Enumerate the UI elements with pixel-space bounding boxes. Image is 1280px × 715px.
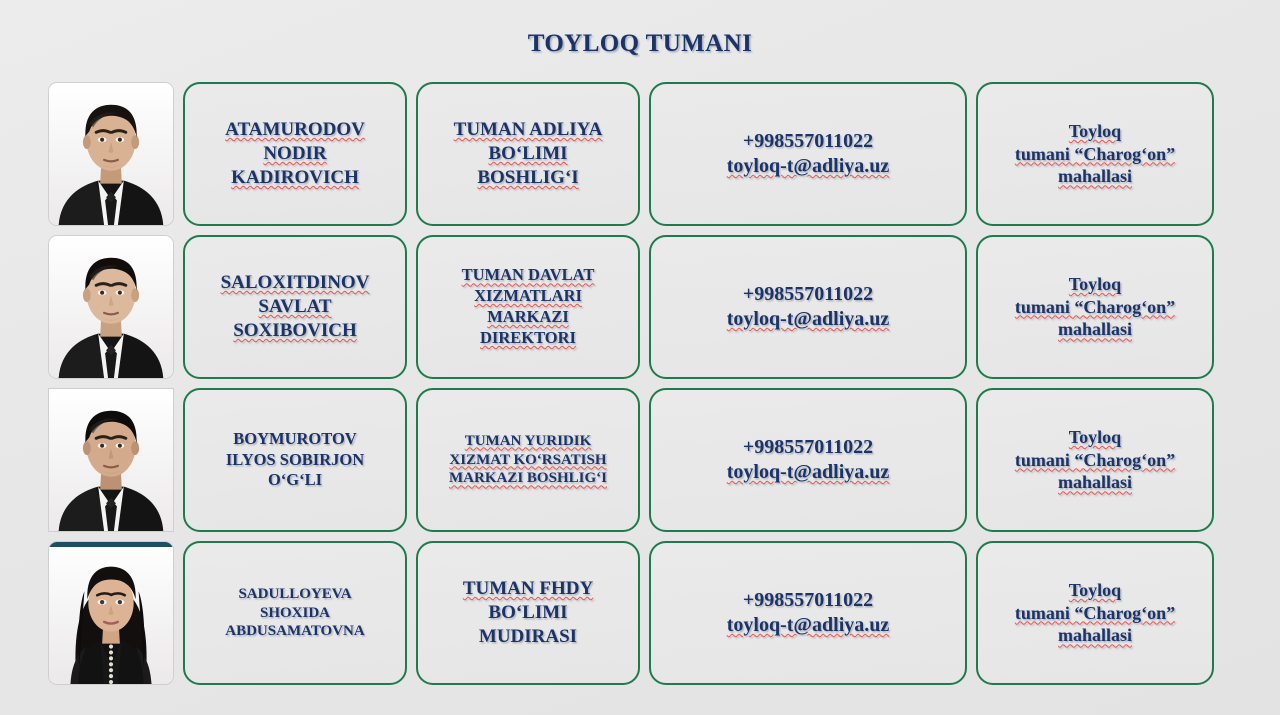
staff-contact: +998557011022 toyloq-t@adliya.uz xyxy=(727,435,890,485)
staff-contact-card: +998557011022 toyloq-t@adliya.uz xyxy=(649,388,967,532)
text-line: XIZMAT KO‘RSATISH xyxy=(449,451,607,470)
staff-contact: +998557011022 toyloq-t@adliya.uz xyxy=(727,129,890,179)
text-line: tumani “Charog‘on” xyxy=(1015,296,1175,319)
staff-row: ATAMURODOVNODIRKADIROVICH TUMAN ADLIYABO… xyxy=(48,82,1214,226)
text-line: MARKAZI xyxy=(462,307,595,328)
staff-position: TUMAN DAVLATXIZMATLARIMARKAZIDIREKTORI xyxy=(462,265,595,348)
staff-photo xyxy=(48,388,174,532)
text-line: BOYMUROTOV xyxy=(226,429,364,450)
staff-position-card: TUMAN YURIDIKXIZMAT KO‘RSATISHMARKAZI BO… xyxy=(416,388,640,532)
staff-name: SALOXITDINOVSAVLATSOXIBOVICH xyxy=(221,271,370,343)
staff-position: TUMAN FHDYBO‘LIMIMUDIRASI xyxy=(463,577,593,649)
staff-contact-card: +998557011022 toyloq-t@adliya.uz xyxy=(649,235,967,379)
staff-roster: ATAMURODOVNODIRKADIROVICH TUMAN ADLIYABO… xyxy=(48,82,1214,685)
staff-address: Toyloqtumani “Charog‘on”mahallasi xyxy=(1015,579,1175,647)
staff-contact: +998557011022 toyloq-t@adliya.uz xyxy=(727,588,890,638)
staff-contact-card: +998557011022 toyloq-t@adliya.uz xyxy=(649,541,967,685)
text-line: tumani “Charog‘on” xyxy=(1015,143,1175,166)
staff-address-card: Toyloqtumani “Charog‘on”mahallasi xyxy=(976,541,1214,685)
text-line: mahallasi xyxy=(1015,624,1175,647)
staff-name-card: ATAMURODOVNODIRKADIROVICH xyxy=(183,82,407,226)
text-line: Toyloq xyxy=(1015,273,1175,296)
text-line: BOSHLIG‘I xyxy=(454,166,603,190)
text-line: TUMAN DAVLAT xyxy=(462,265,595,286)
portrait-image xyxy=(49,542,173,684)
staff-address: Toyloqtumani “Charog‘on”mahallasi xyxy=(1015,426,1175,494)
staff-position: TUMAN ADLIYABO‘LIMIBOSHLIG‘I xyxy=(454,118,603,190)
text-line: DIREKTORI xyxy=(462,328,595,349)
staff-position: TUMAN YURIDIKXIZMAT KO‘RSATISHMARKAZI BO… xyxy=(449,432,607,489)
staff-row: SADULLOYEVASHOXIDAABDUSAMATOVNA TUMAN FH… xyxy=(48,541,1214,685)
staff-name-card: SALOXITDINOVSAVLATSOXIBOVICH xyxy=(183,235,407,379)
text-line: ATAMURODOV xyxy=(225,118,365,142)
text-line: O‘G‘LI xyxy=(226,470,364,491)
staff-phone[interactable]: +998557011022 xyxy=(727,129,890,154)
staff-phone[interactable]: +998557011022 xyxy=(727,588,890,613)
staff-email[interactable]: toyloq-t@adliya.uz xyxy=(727,154,890,179)
staff-phone[interactable]: +998557011022 xyxy=(727,435,890,460)
staff-name: SADULLOYEVASHOXIDAABDUSAMATOVNA xyxy=(225,585,364,642)
staff-position-card: TUMAN ADLIYABO‘LIMIBOSHLIG‘I xyxy=(416,82,640,226)
portrait-image xyxy=(49,236,173,378)
text-line: mahallasi xyxy=(1015,165,1175,188)
text-line: XIZMATLARI xyxy=(462,286,595,307)
portrait-image xyxy=(49,389,173,531)
page-title: TOYLOQ TUMANI xyxy=(0,30,1280,58)
text-line: mahallasi xyxy=(1015,318,1175,341)
text-line: tumani “Charog‘on” xyxy=(1015,602,1175,625)
staff-row: BOYMUROTOVILYOS SOBIRJONO‘G‘LI TUMAN YUR… xyxy=(48,388,1214,532)
staff-address-card: Toyloqtumani “Charog‘on”mahallasi xyxy=(976,388,1214,532)
staff-email[interactable]: toyloq-t@adliya.uz xyxy=(727,307,890,332)
text-line: TUMAN ADLIYA xyxy=(454,118,603,142)
staff-position-card: TUMAN FHDYBO‘LIMIMUDIRASI xyxy=(416,541,640,685)
staff-address-card: Toyloqtumani “Charog‘on”mahallasi xyxy=(976,235,1214,379)
text-line: SAVLAT xyxy=(221,295,370,319)
text-line: SADULLOYEVA xyxy=(225,585,364,604)
text-line: TUMAN FHDY xyxy=(463,577,593,601)
staff-address-card: Toyloqtumani “Charog‘on”mahallasi xyxy=(976,82,1214,226)
staff-email[interactable]: toyloq-t@adliya.uz xyxy=(727,460,890,485)
staff-position-card: TUMAN DAVLATXIZMATLARIMARKAZIDIREKTORI xyxy=(416,235,640,379)
staff-name: ATAMURODOVNODIRKADIROVICH xyxy=(225,118,365,190)
staff-contact: +998557011022 toyloq-t@adliya.uz xyxy=(727,282,890,332)
text-line: SHOXIDA xyxy=(225,604,364,623)
staff-row: SALOXITDINOVSAVLATSOXIBOVICH TUMAN DAVLA… xyxy=(48,235,1214,379)
staff-photo xyxy=(48,235,174,379)
staff-name: BOYMUROTOVILYOS SOBIRJONO‘G‘LI xyxy=(226,429,364,491)
text-line: ILYOS SOBIRJON xyxy=(226,450,364,471)
text-line: BO‘LIMI xyxy=(463,601,593,625)
text-line: Toyloq xyxy=(1015,120,1175,143)
text-line: TUMAN YURIDIK xyxy=(449,432,607,451)
text-line: mahallasi xyxy=(1015,471,1175,494)
text-line: MUDIRASI xyxy=(463,625,593,649)
text-line: Toyloq xyxy=(1015,579,1175,602)
staff-name-card: BOYMUROTOVILYOS SOBIRJONO‘G‘LI xyxy=(183,388,407,532)
staff-address: Toyloqtumani “Charog‘on”mahallasi xyxy=(1015,273,1175,341)
text-line: tumani “Charog‘on” xyxy=(1015,449,1175,472)
staff-photo xyxy=(48,82,174,226)
page-root: TOYLOQ TUMANI xyxy=(0,0,1280,715)
staff-email[interactable]: toyloq-t@adliya.uz xyxy=(727,613,890,638)
text-line: KADIROVICH xyxy=(225,166,365,190)
staff-name-card: SADULLOYEVASHOXIDAABDUSAMATOVNA xyxy=(183,541,407,685)
text-line: SALOXITDINOV xyxy=(221,271,370,295)
text-line: ABDUSAMATOVNA xyxy=(225,622,364,641)
text-line: NODIR xyxy=(225,142,365,166)
portrait-image xyxy=(49,83,173,225)
staff-phone[interactable]: +998557011022 xyxy=(727,282,890,307)
text-line: BO‘LIMI xyxy=(454,142,603,166)
text-line: Toyloq xyxy=(1015,426,1175,449)
staff-contact-card: +998557011022 toyloq-t@adliya.uz xyxy=(649,82,967,226)
text-line: MARKAZI BOSHLIG‘I xyxy=(449,469,607,488)
staff-photo xyxy=(48,541,174,685)
text-line: SOXIBOVICH xyxy=(221,319,370,343)
staff-address: Toyloqtumani “Charog‘on”mahallasi xyxy=(1015,120,1175,188)
